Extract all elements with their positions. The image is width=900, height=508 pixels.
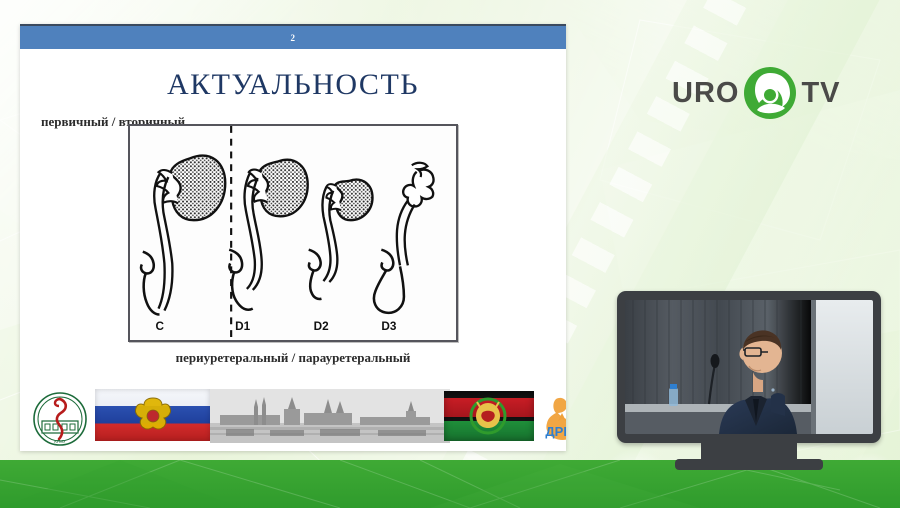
monitor-base [675, 459, 823, 470]
svg-text:КГМУ: КГМУ [54, 439, 66, 444]
drkb-hospital-logo-icon: ДРКБ [534, 391, 566, 443]
slide-page-number: 2 [291, 33, 296, 43]
drkb-logo-text: ДРКБ [545, 424, 566, 439]
panorama-skyline [210, 389, 450, 443]
flag-russia-icon [95, 389, 210, 441]
urotv-logo-prefix: URO [672, 77, 739, 110]
figure-panel-label-c: C [156, 320, 165, 333]
presentation-slide[interactable]: 2 АКТУАЛЬНОСТЬ первичный / вторичный [20, 24, 566, 451]
kidney-ureter-diagram-svg: C D1 [130, 126, 456, 340]
flag-tatarstan-icon [444, 391, 534, 441]
urotv-leaf-mark-icon [743, 66, 797, 120]
monitor-neck [701, 443, 797, 459]
kidney-ureter-diagram: C D1 [128, 124, 458, 342]
figure-panel-label-d1: D1 [235, 320, 250, 333]
urotv-logo-suffix: TV [801, 77, 840, 110]
figure-panel-label-d2: D2 [314, 320, 329, 333]
figure-panel-label-d3: D3 [381, 320, 396, 333]
russia-coat-of-arms-icon [130, 392, 176, 438]
speaker-video-monitor[interactable] [617, 291, 881, 461]
urotv-logo: URO TV [672, 66, 841, 120]
monitor-screen[interactable] [625, 300, 873, 434]
kazan-kremlin-panorama [210, 389, 450, 443]
speaker-video-frame [625, 300, 873, 434]
slide-title: АКТУАЛЬНОСТЬ [20, 68, 566, 102]
medical-university-emblem-icon: КГМУ [32, 391, 88, 447]
slide-header-bar: 2 [20, 24, 566, 49]
monitor-frame [617, 291, 881, 443]
figure-label-bottom: периуретеральный / парауретеральный [20, 350, 566, 366]
app-root: URO TV 2 АКТУАЛЬНОСТЬ первичный / вторич… [0, 0, 900, 508]
tatarstan-emblem-icon [444, 391, 534, 441]
slide-footer-logos: КГМУ [20, 387, 566, 451]
